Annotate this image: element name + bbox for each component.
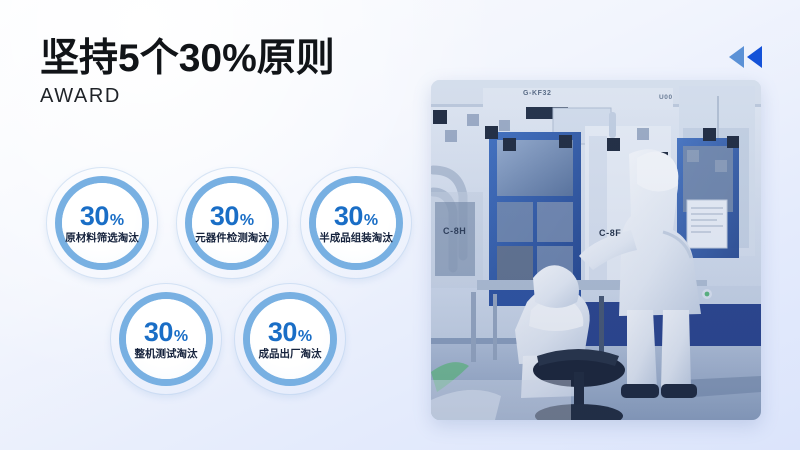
badge-core: 30 % 整机测试淘汰 — [126, 299, 206, 379]
cleanroom-photo: G-KF32 U00 C-8H C-8F — [431, 80, 761, 420]
badge-label: 整机测试淘汰 — [135, 349, 198, 360]
badge-label: 元器件检测淘汰 — [195, 233, 269, 244]
badge-label: 半成品组装淘汰 — [319, 233, 393, 244]
badge-value: 30 % — [80, 203, 124, 230]
badge-core: 30 % 半成品组装淘汰 — [316, 183, 396, 263]
nav-arrows[interactable] — [729, 46, 762, 68]
slide-canvas: 坚持5个30%原则 AWARD 30 % 原材料筛选淘汰 30 — [0, 0, 800, 450]
badge-percent-sign: % — [364, 213, 378, 229]
badge-percent-sign: % — [110, 213, 124, 229]
badge-number: 30 — [80, 203, 109, 230]
badge-value: 30 % — [210, 203, 254, 230]
badge-item[interactable]: 30 % 原材料筛选淘汰 — [46, 167, 158, 279]
badge-core: 30 % 原材料筛选淘汰 — [62, 183, 142, 263]
badge-core: 30 % 元器件检测淘汰 — [192, 183, 272, 263]
badge-percent-sign: % — [298, 329, 312, 345]
badge-item[interactable]: 30 % 成品出厂淘汰 — [234, 283, 346, 395]
badge-core: 30 % 成品出厂淘汰 — [250, 299, 330, 379]
badge-label: 原材料筛选淘汰 — [65, 233, 139, 244]
badge-value: 30 % — [144, 319, 188, 346]
badge-item[interactable]: 30 % 整机测试淘汰 — [110, 283, 222, 395]
badge-number: 30 — [334, 203, 363, 230]
badge-value: 30 % — [268, 319, 312, 346]
cleanroom-photo-illustration — [431, 80, 761, 420]
badge-number: 30 — [210, 203, 239, 230]
badge-label: 成品出厂淘汰 — [259, 349, 322, 360]
badge-percent-sign: % — [174, 329, 188, 345]
badge-number: 30 — [144, 319, 173, 346]
badge-item[interactable]: 30 % 元器件检测淘汰 — [176, 167, 288, 279]
badge-percent-sign: % — [240, 213, 254, 229]
triangle-left-icon-outer[interactable] — [729, 46, 744, 68]
badge-group: 30 % 原材料筛选淘汰 30 % 元器件检测淘汰 30 — [0, 0, 430, 450]
triangle-left-icon-inner[interactable] — [747, 46, 762, 68]
badge-item[interactable]: 30 % 半成品组装淘汰 — [300, 167, 412, 279]
badge-value: 30 % — [334, 203, 378, 230]
badge-number: 30 — [268, 319, 297, 346]
